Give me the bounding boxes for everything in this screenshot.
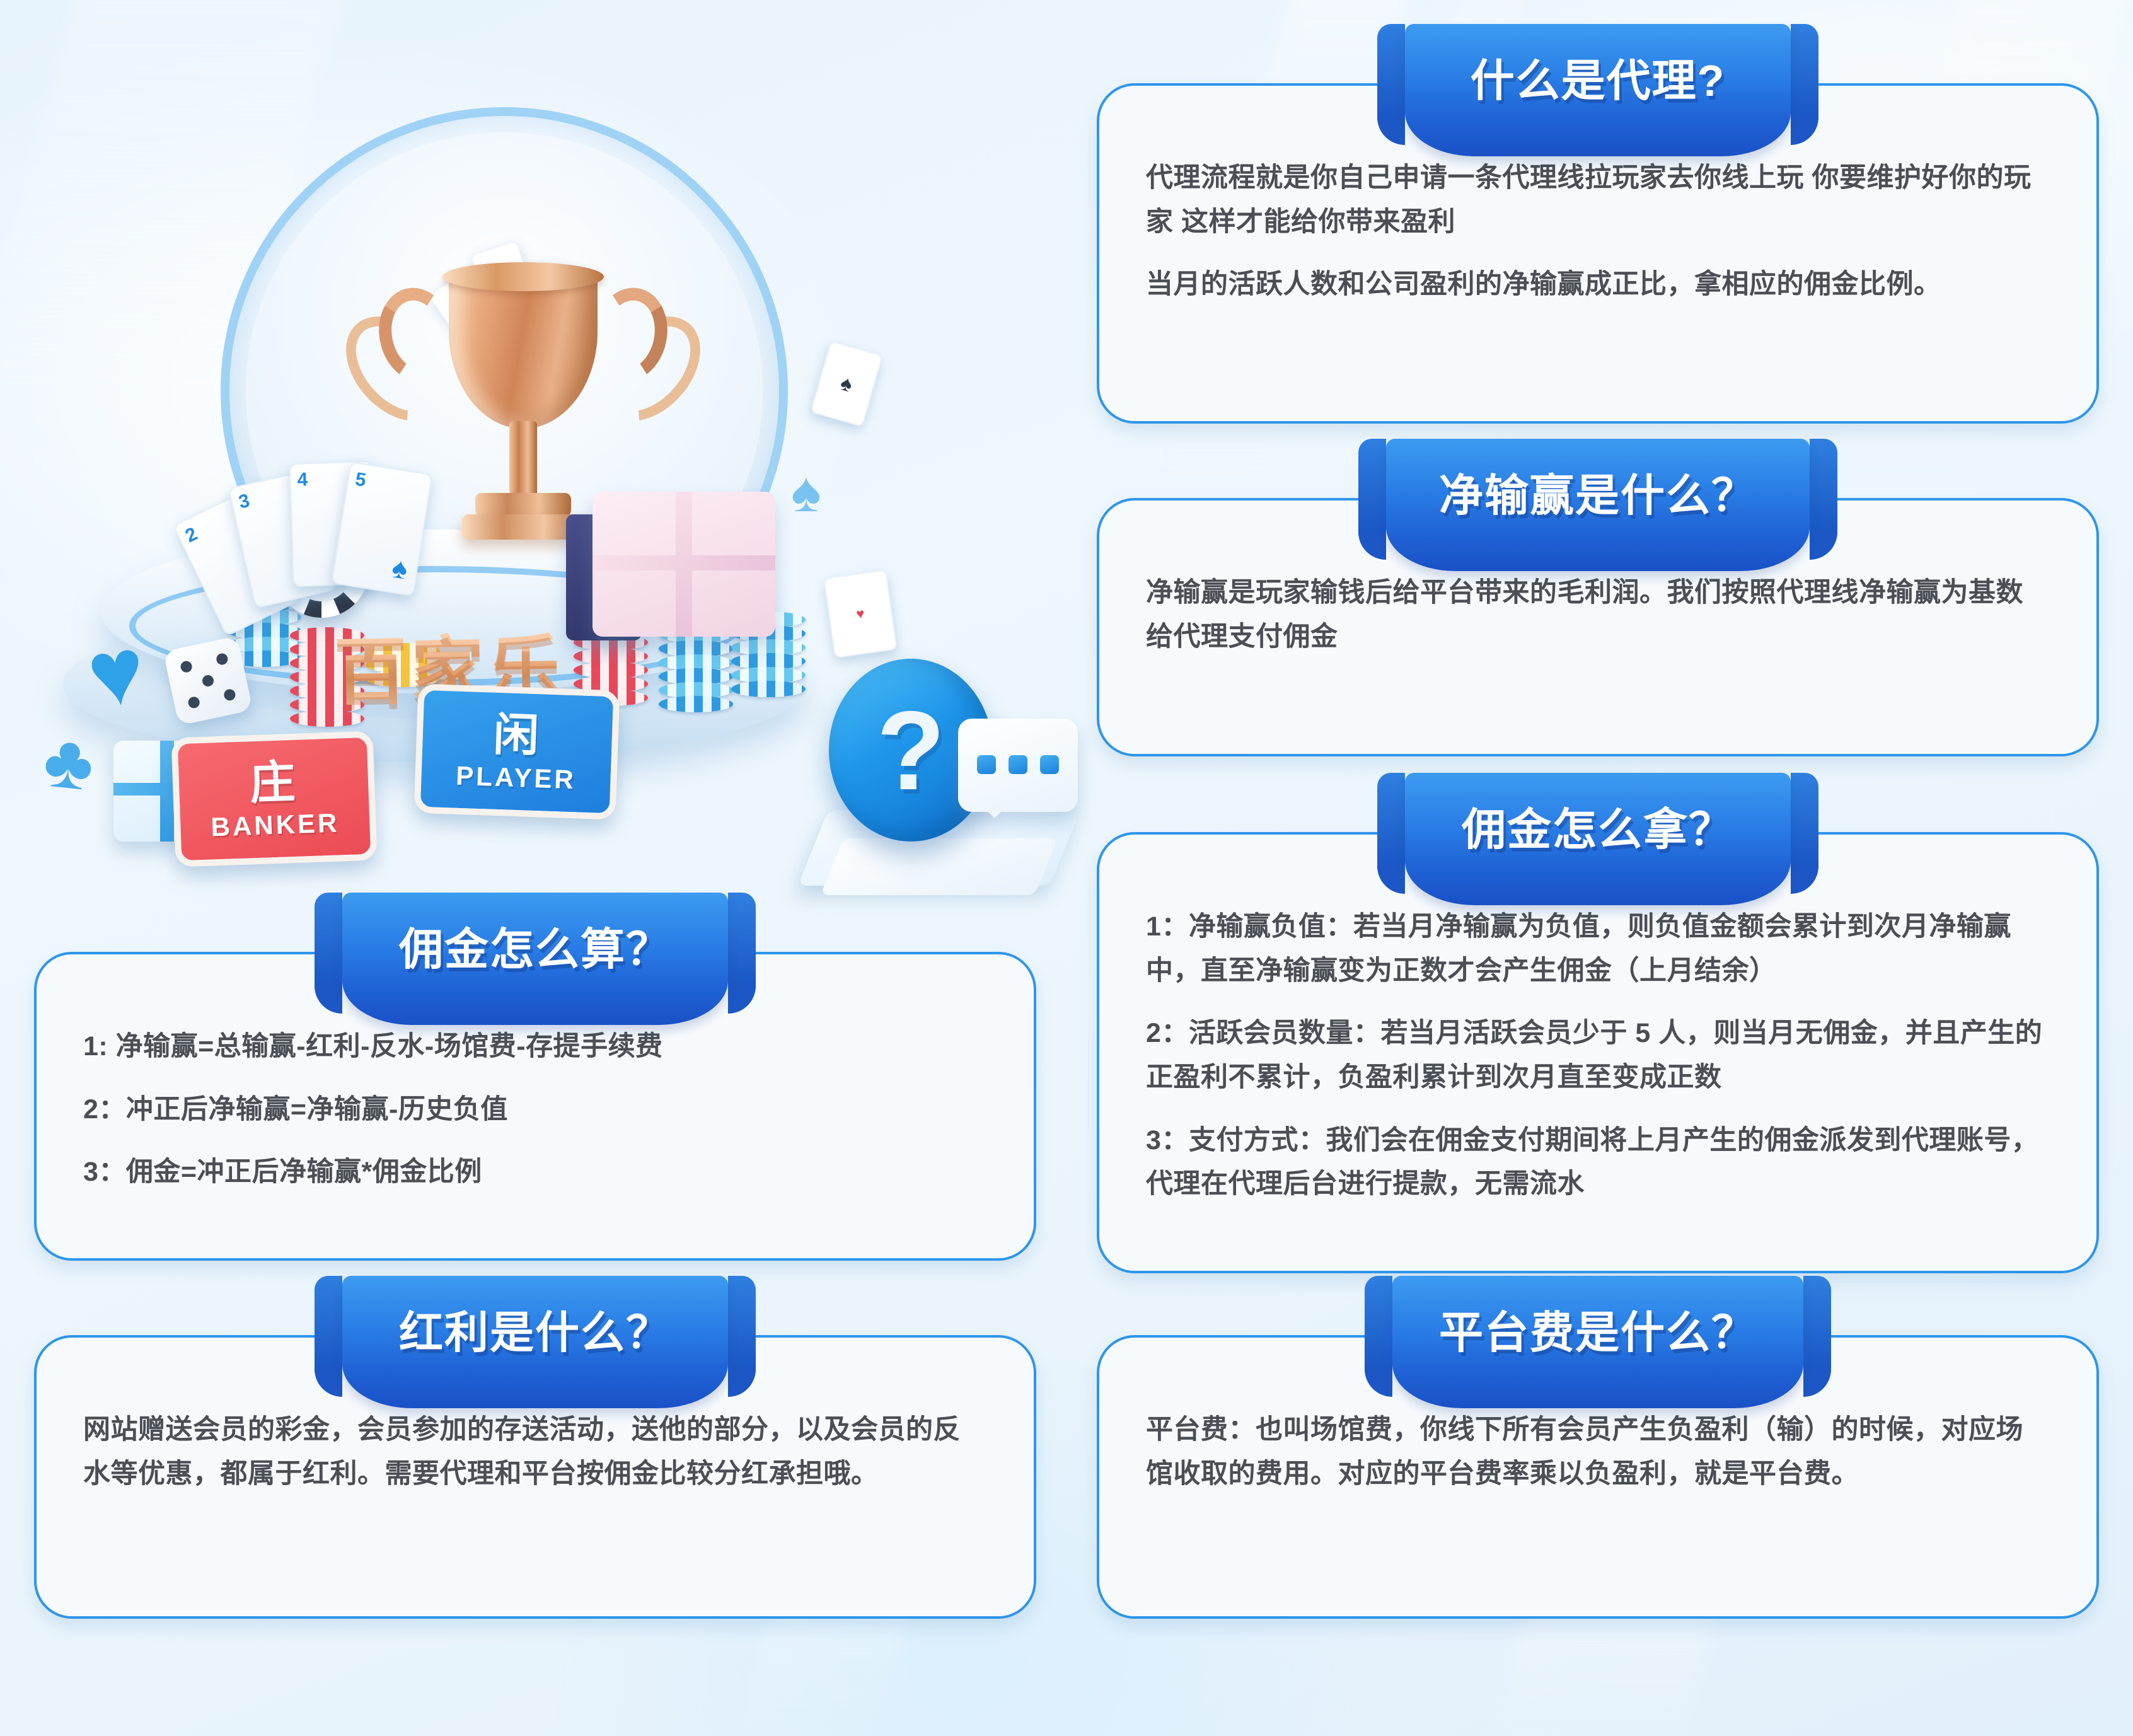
chat-bubble-icon bbox=[958, 719, 1078, 812]
faq-paragraph: 净输赢是玩家输钱后给平台带来的毛利润。我们按照代理线净输赢为基数给代理支付佣金 bbox=[1146, 571, 2050, 659]
faq-body: 1：净输赢负值：若当月净输赢为负值，则负值金额会累计到次月净输赢中，直至净输赢变… bbox=[1099, 835, 2096, 1244]
question-mark-glyph: ? bbox=[877, 686, 945, 815]
faq-paragraph: 3：支付方式：我们会在佣金支付期间将上月产生的佣金派发到代理账号，代理在代理后台… bbox=[1146, 1119, 2050, 1207]
faq-title: 佣金怎么拿？ bbox=[1462, 794, 1734, 858]
dice-icon bbox=[163, 636, 253, 726]
banker-label-cn: 庄 bbox=[249, 759, 298, 806]
faq-paragraph: 当月的活跃人数和公司盈利的净输赢成正比，拿相应的佣金比例。 bbox=[1146, 263, 2050, 307]
hero-tray-bottom bbox=[821, 838, 1058, 895]
faq-card-net-win-loss: 净输赢是什么？ 净输赢是玩家输钱后给平台带来的毛利润。我们按照代理线净输赢为基数… bbox=[1097, 498, 2099, 756]
faq-paragraph: 代理流程就是你自己申请一条代理线拉玩家去你线上玩 你要维护好你的玩家 这样才能给… bbox=[1146, 156, 2050, 244]
faq-title: 净输赢是什么？ bbox=[1439, 460, 1757, 524]
faq-paragraph: 1: 净输赢=总输赢-红利-反水-场馆费-存提手续费 bbox=[83, 1025, 987, 1069]
faq-title: 什么是代理? bbox=[1471, 45, 1726, 109]
faq-body: 网站赠送会员的彩金，会员参加的存送活动，送他的部分，以及会员的反水等优惠，都属于… bbox=[37, 1338, 1034, 1534]
spade-icon: ♠ bbox=[791, 460, 821, 525]
player-label-cn: 闲 bbox=[493, 712, 542, 759]
faq-card-what-is-agent: 什么是代理? 代理流程就是你自己申请一条代理线拉玩家去你线上玩 你要维护好你的玩… bbox=[1097, 83, 2099, 424]
card-rank: 4 bbox=[297, 469, 308, 490]
faq-paragraph: 2：活跃会员数量：若当月活跃会员少于 5 人，则当月无佣金，并且产生的正盈利不累… bbox=[1146, 1012, 2050, 1099]
floating-card: ♥ bbox=[824, 570, 898, 659]
faq-card-how-to-calc-commission: 佣金怎么算？ 1: 净输赢=总输赢-红利-反水-场馆费-存提手续费 2：冲正后净… bbox=[34, 952, 1036, 1261]
faq-paragraph: 3：佣金=冲正后净输赢*佣金比例 bbox=[83, 1150, 987, 1195]
faq-card-how-to-get-commission: 佣金怎么拿？ 1：净输赢负值：若当月净输赢为负值，则负值金额会累计到次月净输赢中… bbox=[1097, 832, 2099, 1273]
card-rank: 3 bbox=[237, 490, 252, 513]
spade-icon: ♠ bbox=[390, 550, 410, 586]
faq-body: 净输赢是玩家输钱后给平台带来的毛利润。我们按照代理线净输赢为基数给代理支付佣金 bbox=[1099, 501, 2096, 697]
faq-body: 代理流程就是你自己申请一条代理线拉玩家去你线上玩 你要维护好你的玩家 这样才能给… bbox=[1099, 86, 2096, 345]
faq-paragraph: 1：净输赢负值：若当月净输赢为负值，则负值金额会累计到次月净输赢中，直至净输赢变… bbox=[1146, 905, 2050, 993]
faq-title: 平台费是什么？ bbox=[1439, 1297, 1757, 1361]
faq-paragraph: 2：冲正后净输赢=净输赢-历史负值 bbox=[83, 1088, 987, 1132]
faq-title: 佣金怎么算？ bbox=[399, 914, 671, 978]
faq-paragraph: 网站赠送会员的彩金，会员参加的存送活动，送他的部分，以及会员的反水等优惠，都属于… bbox=[83, 1408, 987, 1496]
faq-paragraph: 平台费：也叫场馆费，你线下所有会员产生负盈利（输）的时候，对应场馆收取的费用。对… bbox=[1146, 1408, 2050, 1496]
faq-title: 红利是什么？ bbox=[399, 1297, 671, 1361]
card-rank: 5 bbox=[354, 469, 367, 491]
hero-casino-illustration: ♠ ♥ ♥ ♠ ♥ bbox=[38, 88, 1059, 870]
faq-page: ♠ ♥ ♥ ♠ ♥ bbox=[0, 0, 2133, 1736]
club-icon: ♣ bbox=[40, 716, 98, 807]
faq-card-what-is-bonus: 红利是什么？ 网站赠送会员的彩金，会员参加的存送活动，送他的部分，以及会员的反水… bbox=[34, 1335, 1036, 1619]
faq-card-what-is-platform-fee: 平台费是什么？ 平台费：也叫场馆费，你线下所有会员产生负盈利（输）的时候，对应场… bbox=[1097, 1335, 2099, 1619]
gift-box-pink bbox=[592, 492, 775, 637]
faq-body: 平台费：也叫场馆费，你线下所有会员产生负盈利（输）的时候，对应场馆收取的费用。对… bbox=[1099, 1338, 2096, 1534]
banker-label-en: BANKER bbox=[211, 809, 340, 840]
card-rank: 2 bbox=[182, 523, 200, 547]
player-label-en: PLAYER bbox=[456, 762, 577, 793]
floating-card: ♠ bbox=[810, 340, 882, 427]
player-plaque: 闲 PLAYER bbox=[414, 683, 620, 819]
banker-plaque: 庄 BANKER bbox=[171, 731, 378, 867]
faq-body: 1: 净输赢=总输赢-红利-反水-场馆费-存提手续费 2：冲正后净输赢=净输赢-… bbox=[37, 954, 1034, 1232]
